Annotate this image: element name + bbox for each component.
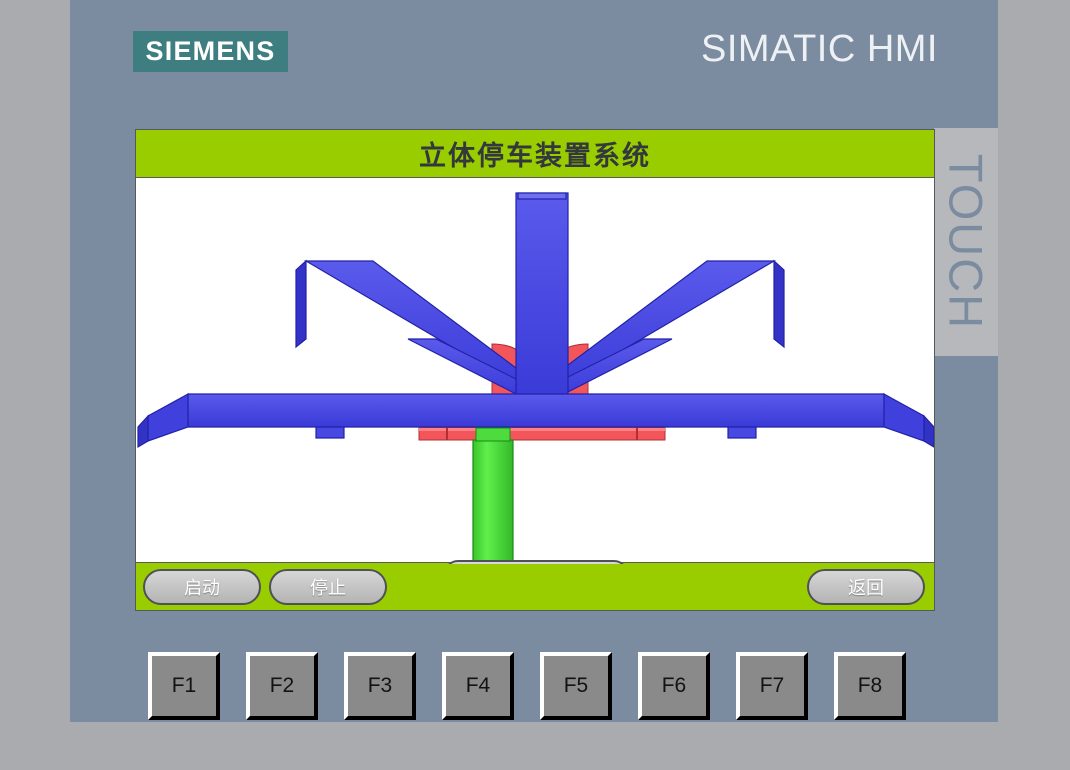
function-key-f2[interactable]: F2 xyxy=(246,652,318,720)
function-key-f3[interactable]: F3 xyxy=(344,652,416,720)
touch-side-panel: TOUCH xyxy=(934,128,998,356)
function-key-f4[interactable]: F4 xyxy=(442,652,514,720)
function-key-f8[interactable]: F8 xyxy=(834,652,906,720)
enter-system-button[interactable]: 进入系统 xyxy=(444,560,628,564)
green-mast xyxy=(473,428,513,564)
function-key-f7[interactable]: F7 xyxy=(736,652,808,720)
hmi-panel-screenshot: SIEMENS SIMATIC HMI TOUCH 立体停车装置系统 xyxy=(0,0,1070,770)
parking-machine-diagram xyxy=(136,179,934,564)
function-key-f1[interactable]: F1 xyxy=(148,652,220,720)
start-button[interactable]: 启动 xyxy=(143,569,261,605)
siemens-logo: SIEMENS xyxy=(133,31,288,72)
gantry-truss xyxy=(296,193,784,398)
siemens-logo-text: SIEMENS xyxy=(146,36,276,67)
screen-footer-bar: 启动 停止 返回 xyxy=(136,562,934,610)
function-key-row: F1 F2 F3 F4 F5 F6 F7 F8 xyxy=(148,652,906,720)
back-button[interactable]: 返回 xyxy=(807,569,925,605)
machine-graphic-area: 进入系统 xyxy=(136,179,934,564)
touch-label: TOUCH xyxy=(939,154,994,330)
screen-title-bar: 立体停车装置系统 xyxy=(136,130,934,178)
product-line-label: SIMATIC HMI xyxy=(701,28,938,71)
function-key-f5[interactable]: F5 xyxy=(540,652,612,720)
red-crossbar xyxy=(419,428,665,440)
stop-button[interactable]: 停止 xyxy=(269,569,387,605)
function-key-f6[interactable]: F6 xyxy=(638,652,710,720)
page-title: 立体停车装置系统 xyxy=(419,134,651,173)
hmi-screen: 立体停车装置系统 xyxy=(135,129,935,611)
